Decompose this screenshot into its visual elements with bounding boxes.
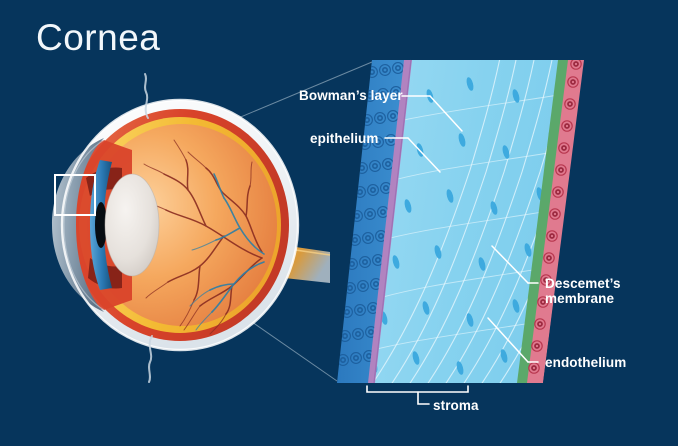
lens bbox=[105, 174, 159, 276]
cornea-layer-magnification bbox=[330, 55, 678, 392]
label-stroma: stroma bbox=[433, 398, 479, 413]
eye-cross-section bbox=[52, 74, 330, 382]
label-epithelium: epithelium bbox=[310, 131, 379, 146]
label-descemets-membrane: Descemet’s membrane bbox=[545, 276, 665, 306]
label-bowmans-layer: Bowman’s layer bbox=[299, 88, 403, 103]
figure-canvas: Cornea bbox=[0, 0, 678, 446]
illustration-svg bbox=[0, 0, 678, 446]
label-endothelium: endothelium bbox=[545, 355, 626, 370]
